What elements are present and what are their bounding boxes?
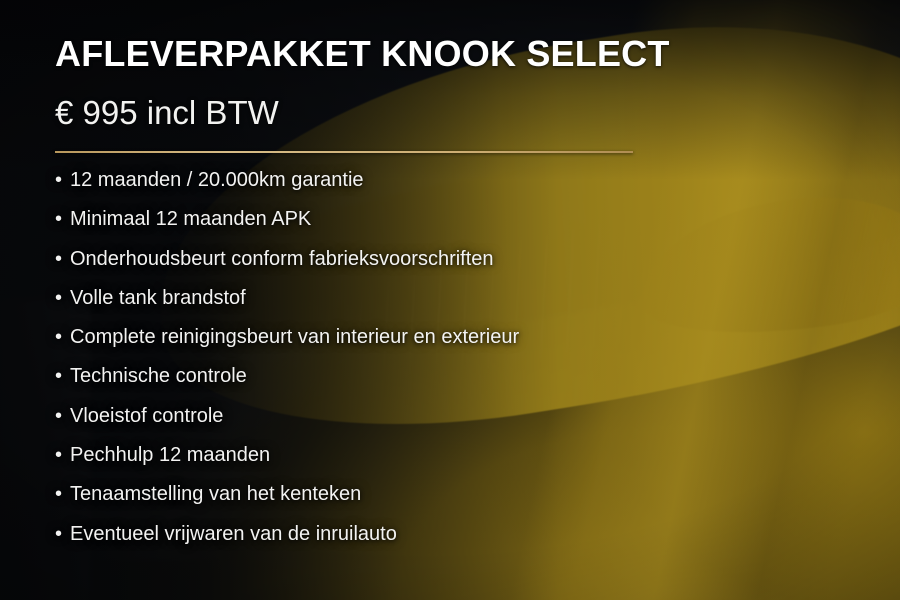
bullet-dot-icon: • bbox=[55, 209, 70, 229]
bullet-dot-icon: • bbox=[55, 170, 70, 190]
bullet-dot-icon: • bbox=[55, 327, 70, 347]
list-item-label: Onderhoudsbeurt conform fabrieksvoorschr… bbox=[70, 249, 494, 269]
list-item-label: Vloeistof controle bbox=[70, 406, 223, 426]
bullet-dot-icon: • bbox=[55, 366, 70, 386]
page-title: AFLEVERPAKKET KNOOK SELECT bbox=[55, 36, 900, 72]
list-item-label: 12 maanden / 20.000km garantie bbox=[70, 170, 364, 190]
list-item: •Tenaamstelling van het kenteken bbox=[55, 484, 900, 523]
list-item-label: Technische controle bbox=[70, 366, 247, 386]
list-item: •Pechhulp 12 maanden bbox=[55, 445, 900, 484]
list-item: •12 maanden / 20.000km garantie bbox=[55, 170, 900, 209]
list-item: •Vloeistof controle bbox=[55, 406, 900, 445]
list-item-label: Pechhulp 12 maanden bbox=[70, 445, 270, 465]
list-item-label: Volle tank brandstof bbox=[70, 288, 246, 308]
bullet-dot-icon: • bbox=[55, 288, 70, 308]
bullet-dot-icon: • bbox=[55, 524, 70, 544]
list-item-label: Eventueel vrijwaren van de inruilauto bbox=[70, 524, 397, 544]
list-item: •Minimaal 12 maanden APK bbox=[55, 209, 900, 248]
price-subtitle: € 995 incl BTW bbox=[55, 96, 900, 129]
list-item-label: Complete reinigingsbeurt van interieur e… bbox=[70, 327, 519, 347]
bullet-dot-icon: • bbox=[55, 249, 70, 269]
list-item: •Onderhoudsbeurt conform fabrieksvoorsch… bbox=[55, 249, 900, 288]
feature-list: •12 maanden / 20.000km garantie•Minimaal… bbox=[55, 170, 900, 563]
divider bbox=[55, 151, 633, 153]
bullet-dot-icon: • bbox=[55, 484, 70, 504]
promo-slide: AFLEVERPAKKET KNOOK SELECT € 995 incl BT… bbox=[0, 0, 900, 600]
bullet-dot-icon: • bbox=[55, 445, 70, 465]
list-item: •Technische controle bbox=[55, 366, 900, 405]
content-area: AFLEVERPAKKET KNOOK SELECT € 995 incl BT… bbox=[0, 0, 900, 600]
list-item-label: Tenaamstelling van het kenteken bbox=[70, 484, 361, 504]
list-item: •Complete reinigingsbeurt van interieur … bbox=[55, 327, 900, 366]
bullet-dot-icon: • bbox=[55, 406, 70, 426]
list-item: •Eventueel vrijwaren van de inruilauto bbox=[55, 524, 900, 563]
list-item-label: Minimaal 12 maanden APK bbox=[70, 209, 311, 229]
list-item: •Volle tank brandstof bbox=[55, 288, 900, 327]
